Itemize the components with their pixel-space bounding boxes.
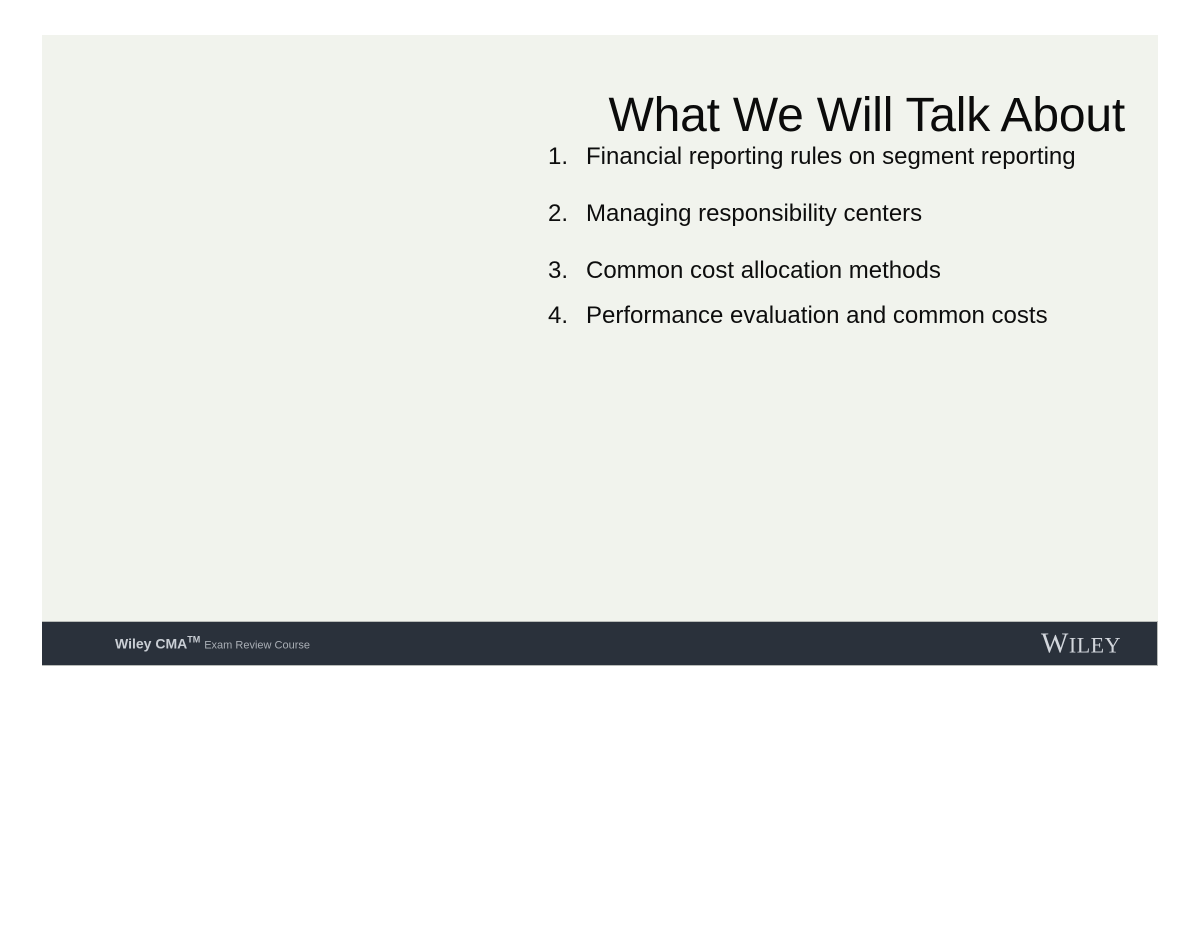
talking-points-list: 1. Financial reporting rules on segment … (548, 145, 1168, 328)
list-item-label: Managing responsibility centers (586, 202, 922, 226)
slide-footer: Wiley CMATMExam Review Course WILEY (42, 621, 1158, 666)
wiley-logo: WILEY (1041, 629, 1121, 658)
presentation-slide: What We Will Talk About 1. Financial rep… (42, 35, 1158, 666)
list-item-number: 4. (548, 304, 586, 328)
list-item: 4. Performance evaluation and common cos… (548, 304, 1168, 328)
list-item: 1. Financial reporting rules on segment … (548, 145, 1168, 169)
footer-brand-subtitle: Exam Review Course (204, 639, 310, 651)
list-item-label: Financial reporting rules on segment rep… (586, 145, 1076, 169)
list-item-number: 1. (548, 145, 586, 169)
list-item-label: Performance evaluation and common costs (586, 304, 1048, 328)
footer-brand-name: Wiley CMA (115, 635, 187, 651)
slide-body: What We Will Talk About 1. Financial rep… (42, 35, 1158, 621)
slide-canvas: What We Will Talk About 1. Financial rep… (0, 0, 1200, 927)
list-item-number: 2. (548, 202, 586, 226)
list-item: 2. Managing responsibility centers (548, 202, 1168, 226)
list-item-number: 3. (548, 259, 586, 283)
trademark-symbol: TM (187, 634, 200, 644)
page-title: What We Will Talk About (342, 91, 1125, 142)
wiley-logo-rest: ILEY (1069, 632, 1121, 657)
wiley-logo-first-letter: W (1041, 627, 1069, 659)
footer-brand: Wiley CMATMExam Review Course (115, 634, 310, 653)
list-item-label: Common cost allocation methods (586, 259, 941, 283)
list-item: 3. Common cost allocation methods (548, 259, 1168, 283)
